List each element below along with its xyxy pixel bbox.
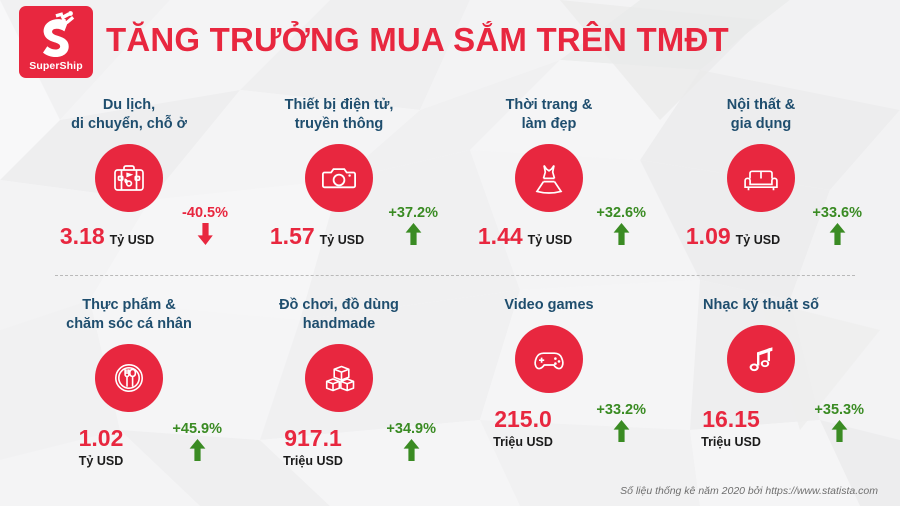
value-group: 3.18 Tỷ USD <box>4 225 210 248</box>
dress-icon <box>529 158 569 198</box>
card-value: 3.18 <box>60 225 105 248</box>
card-stats: 1.02 Tỷ USD +45.9% <box>26 427 232 469</box>
icon-wrap <box>26 344 232 412</box>
card-stats: 215.0 Triệu USD +33.2% <box>446 408 652 450</box>
card-stats: 1.57 Tỷ USD +37.2% <box>236 225 442 248</box>
stat-card-digital-music[interactable]: Nhạc kỹ thuật số 16.15 <box>658 296 864 476</box>
page-title: TĂNG TRƯỞNG MUA SẮM TRÊN TMĐT <box>106 21 729 59</box>
icon-badge <box>515 144 583 212</box>
camera-icon <box>319 158 359 198</box>
card-value: 1.44 <box>478 225 523 248</box>
arrow-down-icon <box>197 223 214 245</box>
card-value: 1.02 <box>79 427 124 450</box>
icon-wrap <box>236 344 442 412</box>
supership-s-logo-icon <box>19 9 93 59</box>
music-note-icon <box>741 339 781 379</box>
arrow-up-icon <box>403 439 420 461</box>
card-unit: Triệu USD <box>283 454 343 469</box>
card-label: Du lịch, di chuyển, chỗ ở <box>26 96 232 134</box>
sofa-icon <box>741 158 781 198</box>
stat-row-2: Thực phẩm & chăm sóc cá nhân <box>0 296 900 476</box>
icon-wrap <box>236 144 442 212</box>
growth-group: +33.6% <box>812 205 862 245</box>
card-label: Thiết bị điện tử, truyền thông <box>236 96 442 134</box>
arrow-up-icon <box>405 223 422 245</box>
card-value: 1.09 <box>686 225 731 248</box>
card-label: Video games <box>446 296 652 315</box>
card-label: Thực phẩm & chăm sóc cá nhân <box>26 296 232 334</box>
card-value: 1.57 <box>270 225 315 248</box>
icon-wrap <box>658 144 864 212</box>
plate-cutlery-icon <box>109 358 149 398</box>
card-label: Thời trang & làm đẹp <box>446 96 652 134</box>
growth-percent: +35.3% <box>814 402 864 418</box>
value-group: 215.0 Triệu USD <box>420 408 626 450</box>
card-unit: Triệu USD <box>493 435 553 450</box>
card-unit: Tỷ USD <box>528 233 572 248</box>
icon-badge <box>95 144 163 212</box>
card-stats: 3.18 Tỷ USD -40.5% <box>26 225 232 248</box>
icon-badge <box>305 344 373 412</box>
icon-badge <box>727 325 795 393</box>
growth-percent: +33.6% <box>812 205 862 221</box>
icon-badge <box>305 144 373 212</box>
icon-wrap <box>26 144 232 212</box>
growth-percent: +32.6% <box>596 205 646 221</box>
icon-badge <box>515 325 583 393</box>
value-group: 917.1 Triệu USD <box>210 427 416 469</box>
card-unit: Tỷ USD <box>110 233 154 248</box>
row-divider <box>55 275 855 276</box>
stat-card-toys[interactable]: Đồ chơi, đồ dùng handmade 917.1 <box>236 296 442 476</box>
card-label: Nhạc kỹ thuật số <box>658 296 864 315</box>
header: SuperShip TĂNG TRƯỞNG MUA SẮM TRÊN TMĐT <box>0 0 900 86</box>
card-stats: 1.09 Tỷ USD +33.6% <box>658 225 864 248</box>
stat-row-1: Du lịch, di chuyển, chỗ ở <box>0 96 900 266</box>
icon-wrap <box>446 325 652 393</box>
card-label: Nội thất & gia dụng <box>658 96 864 134</box>
gamepad-icon <box>529 339 569 379</box>
supership-logo[interactable]: SuperShip <box>19 6 93 78</box>
stat-card-food[interactable]: Thực phẩm & chăm sóc cá nhân <box>26 296 232 476</box>
stat-card-travel[interactable]: Du lịch, di chuyển, chỗ ở <box>26 96 232 266</box>
arrow-up-icon <box>829 223 846 245</box>
card-unit: Tỷ USD <box>736 233 780 248</box>
icon-badge <box>727 144 795 212</box>
card-stats: 917.1 Triệu USD +34.9% <box>236 427 442 469</box>
card-stats: 1.44 Tỷ USD +32.6% <box>446 225 652 248</box>
card-value: 215.0 <box>494 408 552 431</box>
toy-blocks-icon <box>319 358 359 398</box>
card-stats: 16.15 Triệu USD +35.3% <box>658 408 864 450</box>
growth-group: +35.3% <box>814 402 864 442</box>
value-group: 1.09 Tỷ USD <box>630 225 836 248</box>
arrow-up-icon <box>831 420 848 442</box>
card-unit: Triệu USD <box>701 435 761 450</box>
card-value: 917.1 <box>284 427 342 450</box>
stat-card-electronics[interactable]: Thiết bị điện tử, truyền thông 1.57 Tỷ U… <box>236 96 442 266</box>
value-group: 16.15 Triệu USD <box>628 408 834 450</box>
growth-percent: -40.5% <box>182 205 228 221</box>
suitcase-icon <box>109 158 149 198</box>
arrow-up-icon <box>613 223 630 245</box>
icon-badge <box>95 344 163 412</box>
source-footnote: Số liệu thống kê năm 2020 bởi https://ww… <box>620 485 878 497</box>
icon-wrap <box>446 144 652 212</box>
card-value: 16.15 <box>702 408 760 431</box>
stat-card-video-games[interactable]: Video games 215.0 Triệu USD <box>446 296 652 476</box>
card-label: Đồ chơi, đồ dùng handmade <box>236 296 442 334</box>
logo-wordmark: SuperShip <box>29 61 82 72</box>
icon-wrap <box>658 325 864 393</box>
card-unit: Tỷ USD <box>320 233 364 248</box>
infographic-canvas: SuperShip TĂNG TRƯỞNG MUA SẮM TRÊN TMĐT … <box>0 0 900 506</box>
stat-card-fashion[interactable]: Thời trang & làm đẹp 1.44 Tỷ USD <box>446 96 652 266</box>
stat-card-furniture[interactable]: Nội thất & gia dụng 1.09 Tỷ USD <box>658 96 864 266</box>
card-unit: Tỷ USD <box>79 454 123 469</box>
growth-percent: +37.2% <box>388 205 438 221</box>
arrow-up-icon <box>189 439 206 461</box>
